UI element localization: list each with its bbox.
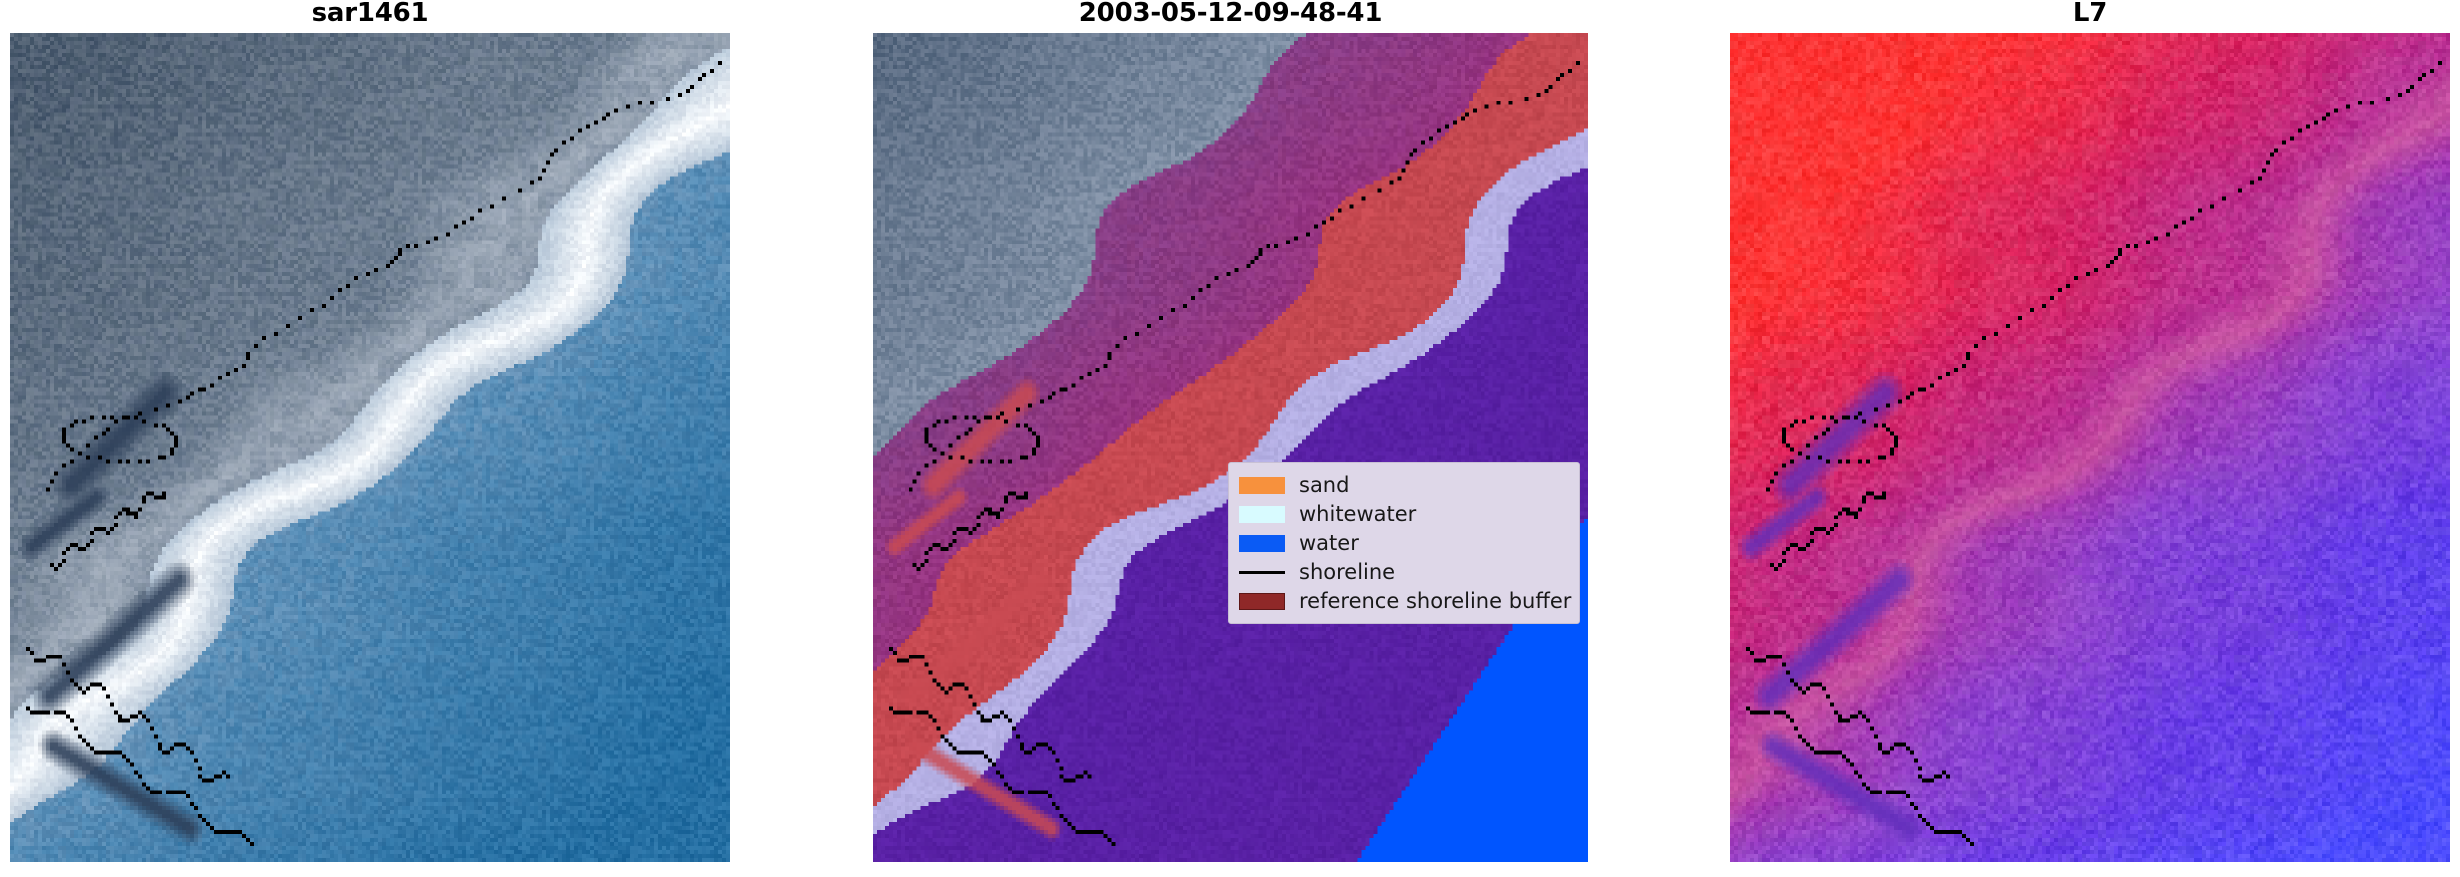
legend-label-reference-buffer: reference shoreline buffer — [1299, 591, 1571, 612]
whitewater-swatch-icon — [1239, 506, 1285, 523]
reference-buffer-swatch-icon — [1239, 593, 1285, 610]
legend-label-whitewater: whitewater — [1299, 504, 1416, 525]
water-swatch-icon — [1239, 535, 1285, 552]
raster-l7 — [1730, 33, 2450, 862]
panel-sar-image — [10, 33, 730, 862]
panel-l7-image — [1730, 33, 2450, 862]
legend-item-whitewater: whitewater — [1239, 500, 1569, 529]
figure-root: sar1461 2003-05-12-09-48-41 L7 sand whit… — [0, 0, 2460, 877]
legend-label-water: water — [1299, 533, 1359, 554]
panel-classified-image — [873, 33, 1588, 862]
sand-swatch-icon — [1239, 477, 1285, 494]
legend-label-sand: sand — [1299, 475, 1349, 496]
panel-title-timestamp: 2003-05-12-09-48-41 — [873, 0, 1588, 33]
raster-classified — [873, 33, 1588, 862]
shoreline-line-icon — [1239, 564, 1285, 581]
panel-title-sar: sar1461 — [10, 0, 730, 33]
legend-item-water: water — [1239, 529, 1569, 558]
legend-item-reference-buffer: reference shoreline buffer — [1239, 587, 1569, 616]
legend-box: sand whitewater water shoreline referenc… — [1228, 462, 1580, 624]
legend-label-shoreline: shoreline — [1299, 562, 1395, 583]
legend-item-shoreline: shoreline — [1239, 558, 1569, 587]
panel-title-l7: L7 — [1730, 0, 2450, 33]
raster-sar — [10, 33, 730, 862]
legend-item-sand: sand — [1239, 471, 1569, 500]
